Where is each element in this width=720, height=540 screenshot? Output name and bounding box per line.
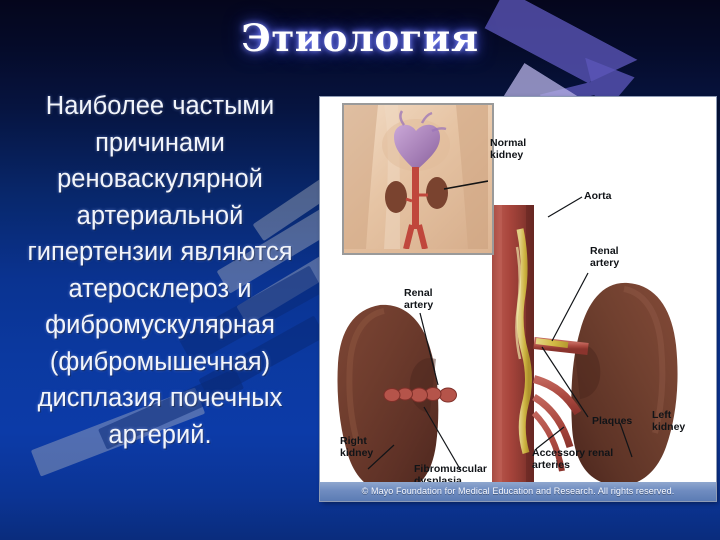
label-plaques: Plaques bbox=[592, 415, 632, 427]
slide-body-text: Наиболее частыми причинами реноваскулярн… bbox=[4, 88, 316, 453]
medical-illustration-panel: Normal kidney Aorta Renal artery Renal a… bbox=[320, 97, 716, 501]
label-renal-artery-left: Renal artery bbox=[404, 287, 433, 311]
label-accessory-renal-arteries: Accessory renal arteries bbox=[532, 447, 613, 471]
label-right-kidney: Right kidney bbox=[340, 435, 373, 459]
slide-title: Этиология bbox=[0, 16, 720, 60]
label-aorta: Aorta bbox=[584, 190, 611, 202]
copyright-bar: © Mayo Foundation for Medical Education … bbox=[320, 482, 716, 501]
label-renal-artery-right: Renal artery bbox=[590, 245, 619, 269]
inset-torso-illustration bbox=[342, 103, 494, 255]
label-normal-kidney: Normal kidney bbox=[490, 137, 526, 161]
label-left-kidney: Left kidney bbox=[652, 409, 685, 433]
presentation-slide: Этиология Наиболее частыми причинами рен… bbox=[0, 0, 720, 540]
